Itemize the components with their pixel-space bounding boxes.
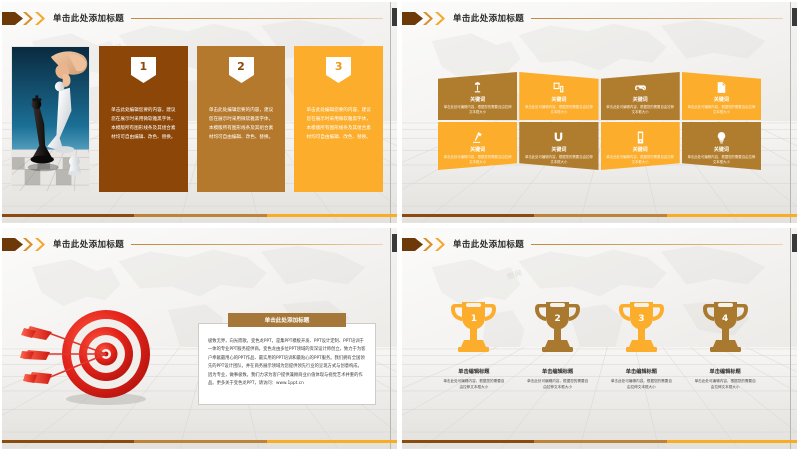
- right-edge-tab: [392, 234, 397, 252]
- keyword-cell-8[interactable]: 关键词 单击此处可编辑内容，根据您的需要自由拉伸文本框大小: [682, 122, 761, 170]
- panel-number-badge-3: 3: [326, 57, 351, 83]
- keyword-row-2: 关键词 单击此处可编辑内容，根据您的需要自由拉伸文本框大小 关键词 单击此处可编…: [438, 122, 761, 170]
- slide-3[interactable]: 图网 单击此处添加标题: [0, 226, 400, 452]
- footer-segment-3: [267, 440, 397, 444]
- trophy-number-4: 4: [698, 314, 753, 324]
- panel-tail-1: [99, 184, 188, 192]
- header-rule: [531, 18, 783, 19]
- keyword-label-3: 关键词: [633, 96, 648, 103]
- keyword-label-2: 关键词: [551, 96, 566, 103]
- keyword-cell-1[interactable]: 关键词 单击此处可编辑内容，根据您的需要自由拉伸文本框大小: [438, 72, 517, 120]
- footer-segment-1: [402, 214, 534, 218]
- trophy-item-4[interactable]: 4 单击编辑标题 单击此处可编辑内容，根据您的需要自由拉伸文本框大小: [683, 298, 767, 428]
- keyword-label-8: 关键词: [714, 146, 729, 153]
- slide-header: 单击此处添加标题: [402, 10, 787, 26]
- footer-bar: [402, 440, 797, 444]
- right-edge-divider: [390, 2, 391, 223]
- info-panel-1[interactable]: 1 单击此处编辑您要的内容，建议您在展示时采用微软雅黑字体，本模版所有图形线条及…: [99, 46, 188, 192]
- watermark: 图网: [506, 268, 524, 282]
- trophy-item-2[interactable]: 2 单击编辑标题 单击此处可编辑内容，根据您的需要自由拉伸文本框大小: [516, 298, 600, 428]
- slide-header: 单击此处添加标题: [2, 236, 387, 252]
- keyword-wall: 关键词 单击此处可编辑内容，根据您的需要自由拉伸文本框大小 关键词 单击此处可编…: [438, 72, 761, 172]
- slide-header: 单击此处添加标题: [2, 10, 387, 26]
- desk-lamp-icon: [471, 81, 484, 94]
- header-rule: [131, 18, 383, 19]
- keyword-label-6: 关键词: [551, 146, 566, 153]
- trophy-icon-2: 2: [530, 298, 585, 356]
- gamepad-icon: [634, 81, 647, 94]
- chess-photo: [11, 46, 90, 192]
- trophy-title-4: 单击编辑标题: [710, 368, 741, 375]
- right-edge-tab: [392, 8, 397, 26]
- header-arrow-icon: [402, 12, 423, 25]
- keyword-cell-7[interactable]: 关键词 单击此处可编辑内容，根据您的需要自由拉伸文本框大小: [601, 122, 680, 170]
- keyword-cell-5[interactable]: 关键词 单击此处可编辑内容，根据您的需要自由拉伸文本框大小: [438, 122, 517, 170]
- right-edge-tab: [792, 8, 797, 26]
- trophy-text-4: 单击此处可编辑内容，根据您的需要自由拉伸文本框大小: [694, 378, 756, 391]
- slide-header: 单击此处添加标题: [402, 236, 787, 252]
- panel-text-3: 单击此处编辑您要的内容，建议您在展示时采用微软雅黑字体，本模版所有图形线条及其组…: [306, 107, 372, 143]
- slide-4[interactable]: 图网 单击此处添加标题: [400, 226, 800, 452]
- card-title: 单击此处添加标题: [265, 316, 310, 324]
- magnet-icon: [552, 131, 565, 144]
- mobile-icon: [634, 131, 647, 144]
- chevron-right-icon-2: [434, 12, 447, 25]
- keyword-cell-4[interactable]: 关键词 单击此处可编辑内容，根据您的需要自由拉伸文本框大小: [682, 72, 761, 120]
- page-title: 单击此处添加标题: [453, 238, 524, 250]
- document-icon: [715, 81, 728, 94]
- footer-bar: [402, 214, 797, 218]
- trophy-text-2: 单击此处可编辑内容，根据您的需要自由拉伸文本框大小: [527, 378, 589, 391]
- lightbulb-icon: [715, 131, 728, 144]
- devices-icon: [552, 81, 565, 94]
- page-title: 单击此处添加标题: [53, 12, 124, 24]
- trophy-item-1[interactable]: 1 单击编辑标题 单击此处可编辑内容，根据您的需要自由拉伸文本框大小: [432, 298, 516, 428]
- keyword-text-5: 单击此处可编辑内容，根据您的需要自由拉伸文本框大小: [443, 155, 513, 166]
- keyword-label-5: 关键词: [470, 146, 485, 153]
- trophy-row: 1 单击编辑标题 单击此处可编辑内容，根据您的需要自由拉伸文本框大小: [432, 298, 767, 428]
- panel-number-2: 2: [229, 60, 254, 73]
- keyword-text-7: 单击此处可编辑内容，根据您的需要自由拉伸文本框大小: [605, 155, 675, 166]
- study-lamp-icon: [471, 131, 484, 144]
- panel-number-badge-2: 2: [229, 57, 254, 83]
- content-row: 1 单击此处编辑您要的内容，建议您在展示时采用微软雅黑字体，本模版所有图形线条及…: [11, 46, 383, 192]
- footer-segment-1: [2, 214, 134, 218]
- header-rule: [131, 244, 383, 245]
- right-edge-divider: [390, 228, 391, 449]
- info-panel-2[interactable]: 2 单击此处编辑您要的内容，建议您在展示时采用微软雅黑字体，本模版所有图形线条及…: [197, 46, 286, 192]
- info-panel-3[interactable]: 3 单击此处编辑您要的内容，建议您在展示时采用微软雅黑字体，本模版所有图形线条及…: [294, 46, 383, 192]
- footer-segment-1: [402, 440, 534, 444]
- keyword-cell-2[interactable]: 关键词 单击此处可编辑内容，根据您的需要自由拉伸文本框大小: [519, 72, 598, 120]
- dartboard-graphic: [20, 298, 180, 408]
- trophy-number-3: 3: [614, 314, 669, 324]
- right-edge-tab: [792, 234, 797, 252]
- footer-segment-2: [534, 214, 666, 218]
- right-edge-divider: [790, 2, 791, 223]
- footer-segment-2: [134, 440, 266, 444]
- chevron-right-icon-2: [434, 238, 447, 251]
- trophy-number-1: 1: [446, 314, 501, 324]
- footer-segment-3: [667, 214, 797, 218]
- header-arrow-icon: [2, 238, 23, 251]
- panel-number-3: 3: [326, 60, 351, 73]
- page-title: 单击此处添加标题: [53, 238, 124, 250]
- right-edge-divider: [790, 228, 791, 449]
- footer-segment-3: [267, 214, 397, 218]
- trophy-icon-4: 4: [698, 298, 753, 356]
- panel-number-badge-1: 1: [131, 57, 156, 83]
- header-arrow-icon: [2, 12, 23, 25]
- keyword-cell-3[interactable]: 关键词 单击此处可编辑内容，根据您的需要自由拉伸文本框大小: [601, 72, 680, 120]
- trophy-item-3[interactable]: 3 单击编辑标题 单击此处可编辑内容，根据您的需要自由拉伸文本框大小: [600, 298, 684, 428]
- card-title-banner: 单击此处添加标题: [228, 313, 346, 327]
- trophy-number-2: 2: [530, 314, 585, 324]
- footer-bar: [2, 440, 397, 444]
- panel-tail-2: [197, 184, 286, 192]
- panel-text-1: 单击此处编辑您要的内容，建议您在展示时采用微软雅黑字体，本模版所有图形线条及其组…: [111, 107, 177, 143]
- page-title: 单击此处添加标题: [453, 12, 524, 24]
- footer-segment-1: [2, 440, 134, 444]
- slide-thumbnail-grid: 图网 单击此处添加标题: [0, 0, 800, 452]
- trophy-title-1: 单击编辑标题: [458, 368, 489, 375]
- card-body-text: 极致无界，向光而歌。变色龙PPT，是集PPT模板开发、PPT设计定制、PPT培训…: [199, 324, 375, 394]
- panel-number-1: 1: [131, 60, 156, 73]
- keyword-text-6: 单击此处可编辑内容，根据您的需要自由拉伸文本框大小: [524, 155, 594, 166]
- footer-bar: [2, 214, 397, 218]
- header-arrow-icon: [402, 238, 423, 251]
- keyword-text-3: 单击此处可编辑内容，根据您的需要自由拉伸文本框大小: [605, 105, 675, 116]
- footer-segment-2: [134, 214, 266, 218]
- description-card: 单击此处添加标题 极致无界，向光而歌。变色龙PPT，是集PPT模板开发、PPT设…: [198, 323, 376, 405]
- trophy-icon-3: 3: [614, 298, 669, 356]
- keyword-cell-6[interactable]: 关键词 单击此处可编辑内容，根据您的需要自由拉伸文本框大小: [519, 122, 598, 170]
- footer-segment-2: [534, 440, 666, 444]
- keyword-label-4: 关键词: [714, 96, 729, 103]
- trophy-text-1: 单击此处可编辑内容，根据您的需要自由拉伸文本框大小: [443, 378, 505, 391]
- panel-tail-3: [294, 184, 383, 192]
- slide-1[interactable]: 图网 单击此处添加标题: [0, 0, 400, 226]
- panel-text-2: 单击此处编辑您要的内容，建议您在展示时采用微软雅黑字体，本模版所有图形线条及其组…: [208, 107, 274, 143]
- trophy-title-2: 单击编辑标题: [542, 368, 573, 375]
- slide-2[interactable]: 图网 单击此处添加标题: [400, 0, 800, 226]
- trophy-title-3: 单击编辑标题: [626, 368, 657, 375]
- chevron-right-icon-2: [34, 12, 47, 25]
- chevron-right-icon-2: [34, 238, 47, 251]
- header-rule: [531, 244, 783, 245]
- footer-segment-3: [667, 440, 797, 444]
- keyword-text-4: 单击此处可编辑内容，根据您的需要自由拉伸文本框大小: [687, 105, 757, 116]
- trophy-icon-1: 1: [446, 298, 501, 356]
- keyword-label-1: 关键词: [470, 96, 485, 103]
- trophy-text-3: 单击此处可编辑内容，根据您的需要自由拉伸文本框大小: [610, 378, 672, 391]
- keyword-label-7: 关键词: [633, 146, 648, 153]
- keyword-text-2: 单击此处可编辑内容，根据您的需要自由拉伸文本框大小: [524, 105, 594, 116]
- keyword-row-1: 关键词 单击此处可编辑内容，根据您的需要自由拉伸文本框大小 关键词 单击此处可编…: [438, 72, 761, 120]
- keyword-text-1: 单击此处可编辑内容，根据您的需要自由拉伸文本框大小: [443, 105, 513, 116]
- keyword-text-8: 单击此处可编辑内容，根据您的需要自由拉伸文本框大小: [687, 155, 757, 166]
